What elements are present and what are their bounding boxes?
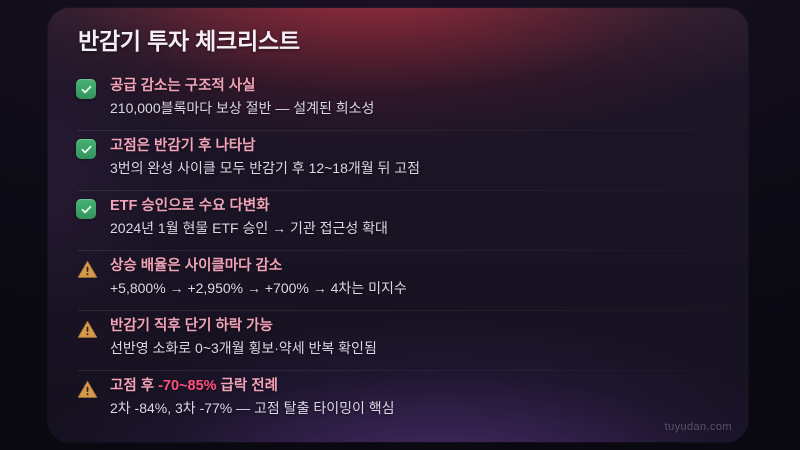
checklist-item-title-suffix: 급락 전례	[217, 378, 278, 394]
warning-icon	[76, 379, 98, 401]
checklist-item-title: 고점은 반감기 후 나타남	[110, 138, 726, 155]
checklist-item-title: 공급 감소는 구조적 사실	[110, 78, 726, 95]
checklist-item-title: 고점 후 -70~85% 급락 전례	[110, 378, 726, 395]
check-icon	[76, 139, 98, 161]
checklist-item-text: 반감기 직후 단기 하락 가능 선반영 소화로 0~3개월 횡보·약세 반복 확…	[110, 318, 726, 358]
checklist-item-title-prefix: 고점 후	[110, 378, 158, 394]
checklist-item-title: ETF 승인으로 수요 다변화	[110, 198, 726, 215]
card-content: 반감기 투자 체크리스트 공급 감소는 구조적 사실 210,000블록마다 보…	[48, 8, 748, 442]
checklist-item-title: 반감기 직후 단기 하락 가능	[110, 318, 726, 335]
checklist-item-subtitle: 3번의 완성 사이클 모두 반감기 후 12~18개월 뒤 고점	[110, 160, 726, 178]
checklist-item-text: 공급 감소는 구조적 사실 210,000블록마다 보상 절반 — 설계된 희소…	[110, 78, 726, 118]
checklist-item-subtitle: 2024년 1월 현물 ETF 승인 → 기관 접근성 확대	[110, 220, 726, 238]
checklist-item-title: 상승 배율은 사이클마다 감소	[110, 258, 726, 275]
checklist-item-4[interactable]: 상승 배율은 사이클마다 감소 +5,800% → +2,950% → +700…	[76, 250, 726, 310]
checklist-card: 반감기 투자 체크리스트 공급 감소는 구조적 사실 210,000블록마다 보…	[48, 8, 748, 442]
page-title: 반감기 투자 체크리스트	[78, 22, 300, 56]
checklist-item-text: 상승 배율은 사이클마다 감소 +5,800% → +2,950% → +700…	[110, 258, 726, 298]
checklist-item-1[interactable]: 공급 감소는 구조적 사실 210,000블록마다 보상 절반 — 설계된 희소…	[76, 70, 726, 130]
checklist-item-2[interactable]: 고점은 반감기 후 나타남 3번의 완성 사이클 모두 반감기 후 12~18개…	[76, 130, 726, 190]
check-icon	[76, 199, 98, 221]
checklist-item-6[interactable]: 고점 후 -70~85% 급락 전례 2차 -84%, 3차 -77% — 고점…	[76, 370, 726, 430]
checklist-item-subtitle: 2차 -84%, 3차 -77% — 고점 탈출 타이밍이 핵심	[110, 400, 726, 418]
checklist-item-subtitle: 선반영 소화로 0~3개월 횡보·약세 반복 확인됨	[110, 340, 726, 358]
check-icon	[76, 79, 98, 101]
checklist-item-title-highlight: -70~85%	[158, 378, 216, 394]
checklist-item-text: 고점 후 -70~85% 급락 전례 2차 -84%, 3차 -77% — 고점…	[110, 378, 726, 418]
checklist-item-subtitle: +5,800% → +2,950% → +700% → 4차는 미지수	[110, 280, 726, 298]
warning-icon	[76, 259, 98, 281]
screenshot-stage: 반감기 투자 체크리스트 공급 감소는 구조적 사실 210,000블록마다 보…	[0, 0, 800, 450]
watermark: tuyudan.com	[665, 421, 732, 433]
checklist: 공급 감소는 구조적 사실 210,000블록마다 보상 절반 — 설계된 희소…	[76, 70, 726, 430]
checklist-item-text: 고점은 반감기 후 나타남 3번의 완성 사이클 모두 반감기 후 12~18개…	[110, 138, 726, 178]
checklist-item-subtitle: 210,000블록마다 보상 절반 — 설계된 희소성	[110, 100, 726, 118]
warning-icon	[76, 319, 98, 341]
checklist-item-text: ETF 승인으로 수요 다변화 2024년 1월 현물 ETF 승인 → 기관 …	[110, 198, 726, 238]
checklist-item-3[interactable]: ETF 승인으로 수요 다변화 2024년 1월 현물 ETF 승인 → 기관 …	[76, 190, 726, 250]
checklist-item-5[interactable]: 반감기 직후 단기 하락 가능 선반영 소화로 0~3개월 횡보·약세 반복 확…	[76, 310, 726, 370]
